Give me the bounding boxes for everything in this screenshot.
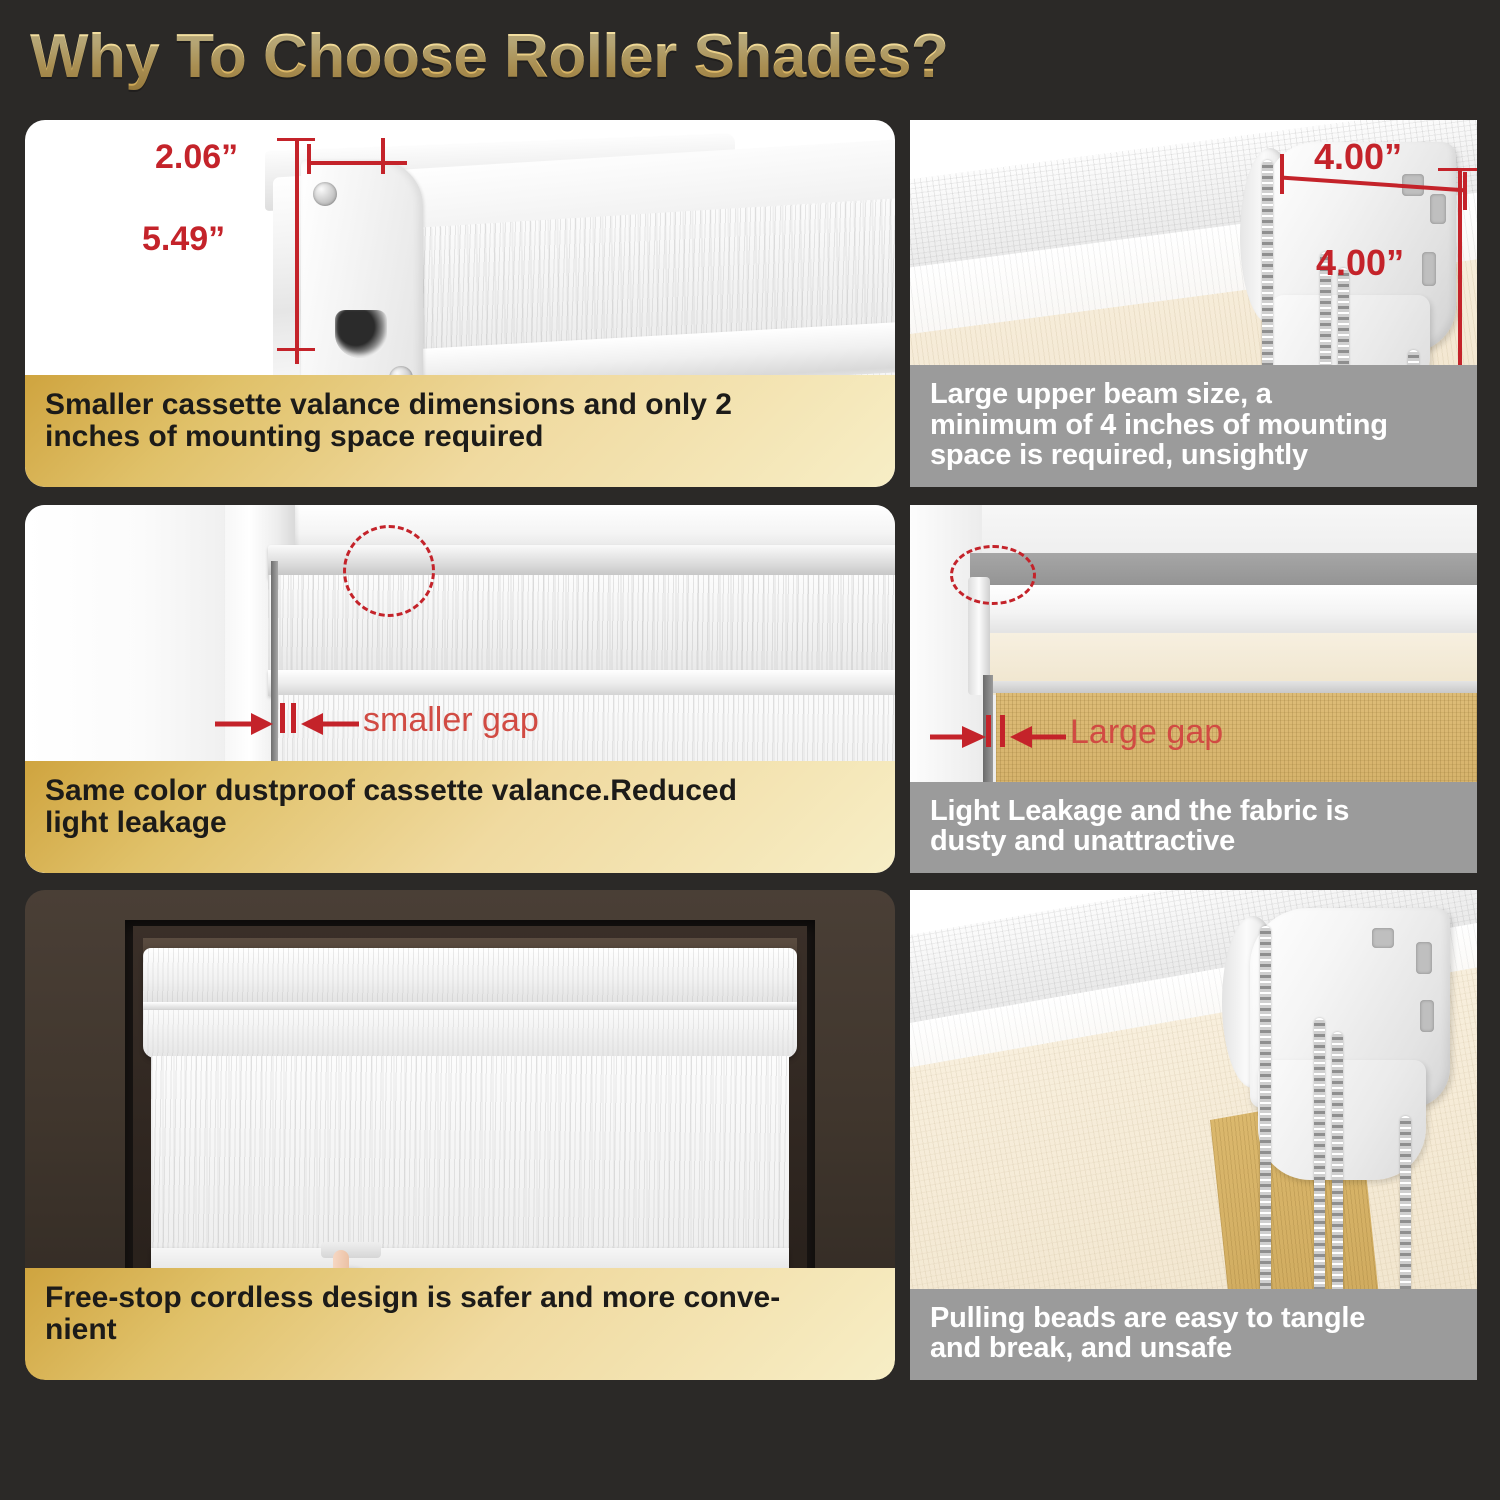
beam-height-dimension-label: 4.00” [1316,242,1404,284]
width-dim-tick-left [307,144,311,174]
highlight-circle-gap [950,545,1036,605]
caption-line-2: nient [45,1314,877,1346]
caption-dustproof-cassette-valance: Same color dustproof cassette valance.Re… [25,761,895,873]
beam-width-tick-left [1280,154,1284,194]
panel-cassette-valance-dimensions: 2.06” 5.49” Smaller cassette valance dim… [25,120,895,487]
large-gap-arrow-left [930,720,996,754]
beam-height-tick-top [1438,168,1477,171]
bead-bracket-slot-2 [1416,942,1432,974]
page-header: Why To Choose Roller Shades? [0,0,1500,112]
fabric-edge-shadow [984,681,1477,693]
panel-free-stop-cordless-design: Free-stop cordless design is safer and m… [25,890,895,1380]
bracket-slot-3 [1422,252,1436,286]
shade-mid-rail [268,670,895,696]
caption-line-1: Pulling beads are easy to tangle [930,1303,1459,1334]
panel-light-leakage-dusty-fabric: Large gap Light Leakage and the fabric i… [910,505,1477,873]
height-dim-line [295,138,299,364]
bead-bracket-slot-3 [1420,1000,1434,1032]
caption-line-1: Free-stop cordless design is safer and m… [45,1282,877,1314]
page-title: Why To Choose Roller Shades? [30,21,948,92]
caption-large-upper-beam: Large upper beam size, a minimum of 4 in… [910,365,1477,487]
caption-line-1: Same color dustproof cassette valance.Re… [45,775,877,807]
caption-line-2: dusty and unattractive [930,826,1459,857]
beam-height-dim-line [1458,168,1462,386]
width-dim-line [307,161,407,165]
bracket-slot-2 [1430,194,1446,224]
panel-dustproof-cassette-valance: smaller gap Same color dustproof cassett… [25,505,895,873]
height-dim-tick-top [277,138,315,141]
bead-bracket-slot-1 [1372,928,1394,948]
caption-free-stop-cordless-design: Free-stop cordless design is safer and m… [25,1268,895,1380]
bottom-rail-grip [321,1242,381,1258]
caption-cassette-valance-dimensions: Smaller cassette valance dimensions and … [25,375,895,487]
caption-pulling-beads-tangle: Pulling beads are easy to tangle and bre… [910,1289,1477,1380]
beam-width-dimension-label: 4.00” [1314,136,1402,178]
caption-line-2: inches of mounting space required [45,421,877,453]
smaller-gap-label: smaller gap [363,701,539,740]
caption-line-1: Smaller cassette valance dimensions and … [45,389,877,421]
beam-width-tick-right [1463,172,1467,210]
highlight-circle-cassette [343,525,435,617]
valance-clutch-slot [335,310,387,358]
caption-line-1: Light Leakage and the fabric is [930,796,1459,827]
valance-screw-top [313,182,337,206]
cassette-valance-upper [143,948,797,1010]
panel-large-upper-beam: 4.00” 4.00” Large upper beam size, a min… [910,120,1477,487]
caption-line-2: and break, and unsafe [930,1333,1459,1364]
height-dimension-label: 5.49” [142,220,225,259]
width-dim-tick-right [381,138,385,174]
roller-shade-fabric [151,1056,789,1256]
caption-line-1: Large upper beam size, a [930,379,1459,410]
height-dim-tick-bottom [277,348,315,351]
caption-line-2: minimum of 4 inches of mounting [930,410,1459,441]
large-gap-arrow-right [1006,720,1068,754]
large-gap-label: Large gap [1070,713,1223,752]
caption-line-2: light leakage [45,807,877,839]
smaller-gap-arrow-right [297,707,359,741]
large-gap-tick-right [1000,715,1005,747]
caption-line-3: space is required, unsightly [930,440,1459,471]
width-dimension-label: 2.06” [155,138,238,177]
caption-light-leakage-dusty-fabric: Light Leakage and the fabric is dusty an… [910,782,1477,873]
cassette-valance-lower [143,1010,797,1058]
panel-pulling-beads-tangle: Pulling beads are easy to tangle and bre… [910,890,1477,1380]
